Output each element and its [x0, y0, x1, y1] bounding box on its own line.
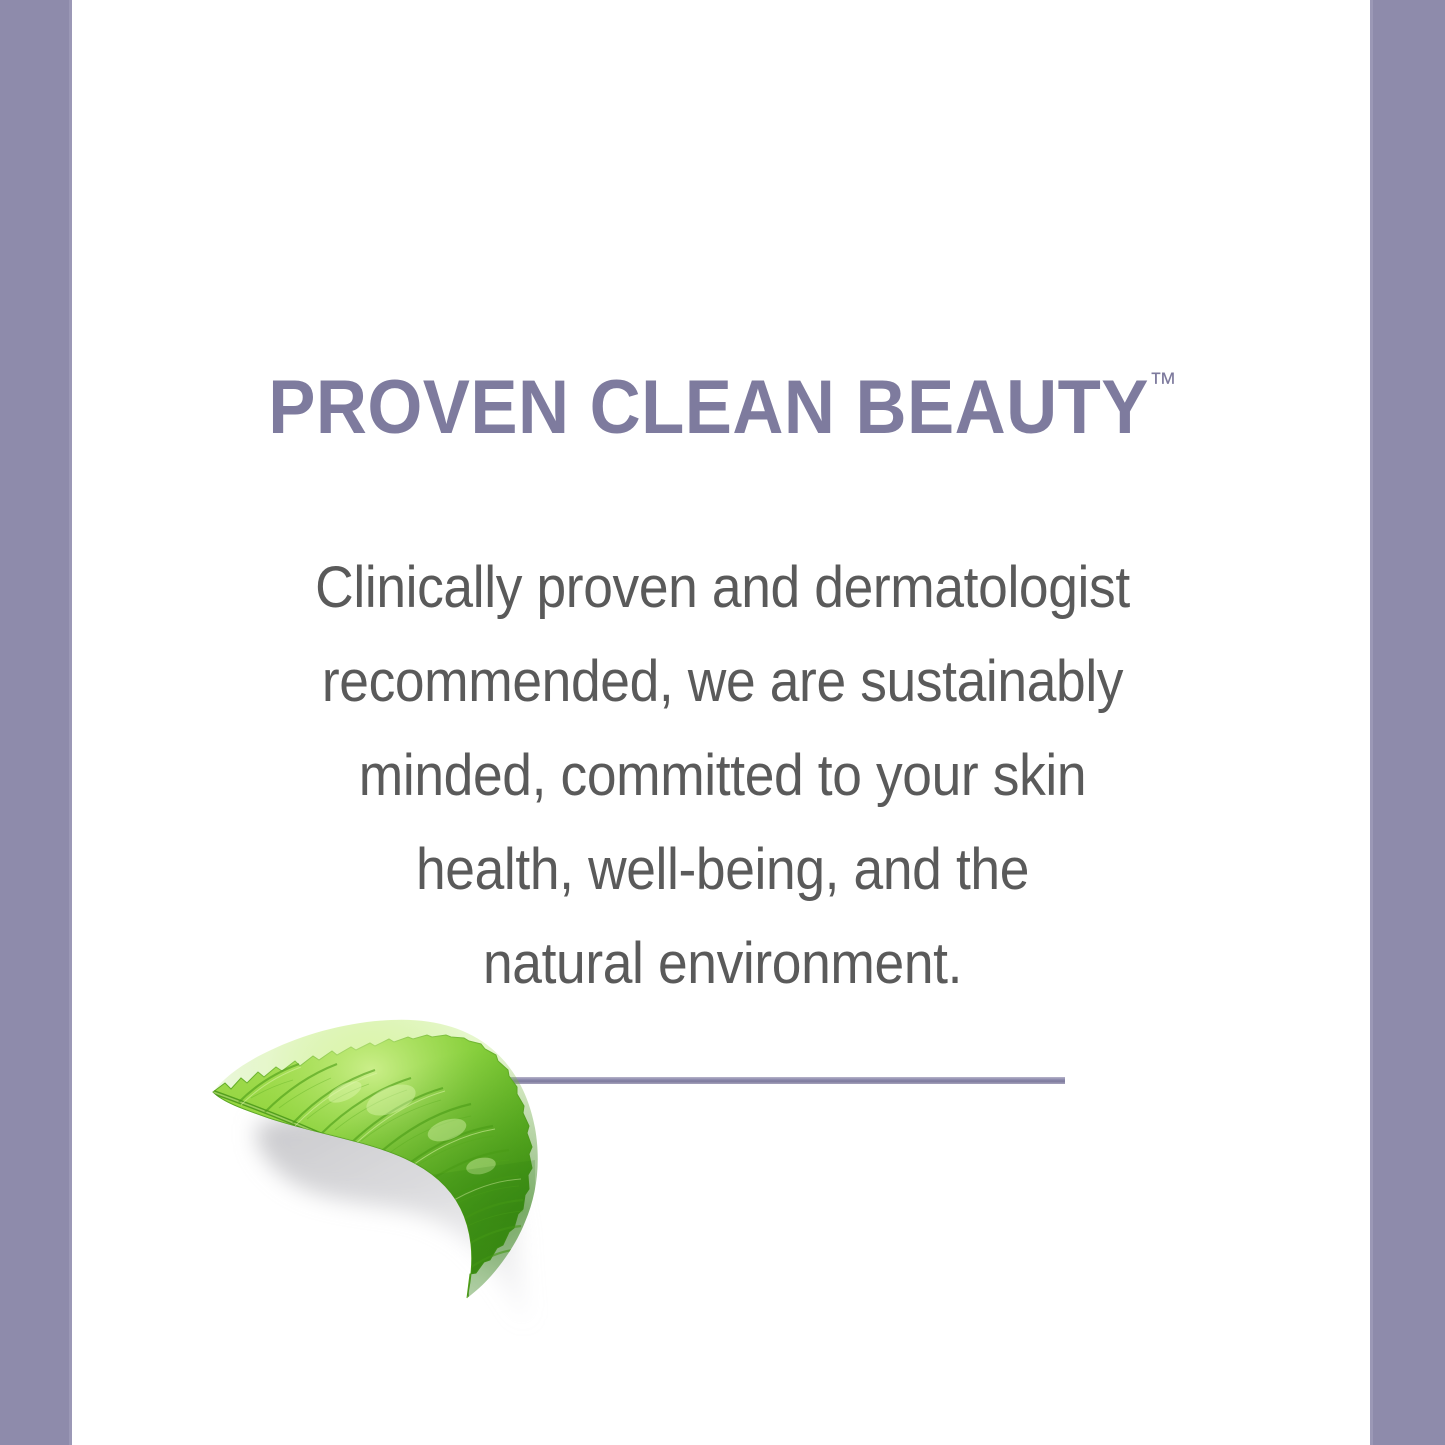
body-line-2: recommended, we are sustainably: [127, 635, 1318, 729]
page-title: PROVEN CLEAN BEAUTY™: [120, 369, 1324, 446]
body-line-4: health, well-being, and the: [127, 823, 1318, 917]
leaf-emblem-group: [75, 960, 1370, 1380]
trademark-symbol: ™: [1149, 367, 1177, 400]
right-border-band: [1370, 0, 1445, 1445]
left-band-inner-line: [69, 0, 72, 1445]
content-column: PROVEN CLEAN BEAUTY™ Clinically proven a…: [75, 0, 1370, 1445]
body-line-3: minded, committed to your skin: [127, 729, 1318, 823]
body-line-1: Clinically proven and dermatologist: [127, 541, 1318, 635]
body-paragraph: Clinically proven and dermatologist reco…: [75, 541, 1370, 1011]
right-band-inner-line: [1370, 0, 1373, 1445]
promo-card: PROVEN CLEAN BEAUTY™ Clinically proven a…: [0, 0, 1445, 1445]
page-title-text: PROVEN CLEAN BEAUTY: [268, 365, 1149, 450]
leaf-icon: [195, 980, 615, 1300]
left-border-band: [0, 0, 72, 1445]
